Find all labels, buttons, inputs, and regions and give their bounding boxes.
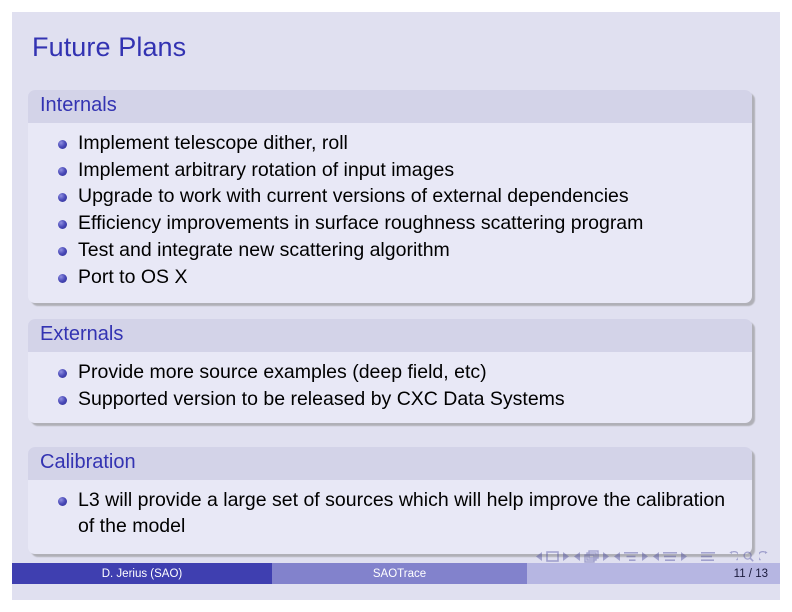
list-item-label: Upgrade to work with current versions of… bbox=[78, 185, 629, 207]
footer-bar: D. Jerius (SAO) SAOTrace 11 / 13 bbox=[12, 563, 780, 584]
nav-group-slide[interactable] bbox=[536, 551, 569, 562]
bullet-ball-icon bbox=[58, 220, 67, 229]
list-item: Implement telescope dither, roll bbox=[42, 131, 738, 157]
list-item-label: Port to OS X bbox=[78, 266, 187, 288]
bullet-list: Provide more source examples (deep field… bbox=[42, 360, 738, 413]
list-item: Test and integrate new scattering algori… bbox=[42, 238, 738, 264]
next-frame-triangle-icon[interactable] bbox=[602, 552, 609, 561]
list-item: Port to OS X bbox=[42, 265, 738, 291]
nav-group-section[interactable] bbox=[653, 551, 687, 562]
bullet-ball-icon bbox=[58, 369, 67, 378]
list-item: Implement arbitrary rotation of input im… bbox=[42, 158, 738, 184]
block-inner: Externals Provide more source examples (… bbox=[28, 319, 752, 423]
list-item-label: Implement telescope dither, roll bbox=[78, 132, 348, 154]
block-body: Provide more source examples (deep field… bbox=[28, 352, 752, 423]
prev-slide-triangle-icon[interactable] bbox=[536, 552, 543, 561]
footer-author: D. Jerius (SAO) bbox=[12, 563, 272, 584]
nav-group-frame[interactable] bbox=[574, 550, 609, 563]
list-item-label: Test and integrate new scattering algori… bbox=[78, 239, 450, 261]
list-item: Upgrade to work with current versions of… bbox=[42, 184, 738, 210]
frame-nav-icon[interactable] bbox=[584, 550, 599, 563]
list-item: Supported version to be released by CXC … bbox=[42, 387, 738, 413]
nav-group-subsection[interactable] bbox=[614, 551, 648, 562]
block-inner: Internals Implement telescope dither, ro… bbox=[28, 90, 752, 303]
list-item-label: L3 will provide a large set of sources w… bbox=[78, 489, 725, 537]
block-heading: Calibration bbox=[28, 447, 752, 480]
prev-section-triangle-icon[interactable] bbox=[653, 552, 660, 561]
block-inner: Calibration L3 will provide a large set … bbox=[28, 447, 752, 554]
list-item-label: Efficiency improvements in surface rough… bbox=[78, 212, 643, 234]
bullet-ball-icon bbox=[58, 274, 67, 283]
navigation-symbols[interactable] bbox=[536, 550, 770, 563]
footer-page-number: 11 / 13 bbox=[527, 563, 780, 584]
next-slide-triangle-icon[interactable] bbox=[562, 552, 569, 561]
list-item: Provide more source examples (deep field… bbox=[42, 360, 738, 386]
next-subsection-triangle-icon[interactable] bbox=[641, 552, 648, 561]
subsection-nav-icon[interactable] bbox=[624, 551, 638, 562]
list-item: Efficiency improvements in surface rough… bbox=[42, 211, 738, 237]
slide-canvas: Future Plans Internals Implement telesco… bbox=[12, 12, 780, 600]
next-section-triangle-icon[interactable] bbox=[680, 552, 687, 561]
bullet-list: L3 will provide a large set of sources w… bbox=[42, 488, 738, 540]
bullet-list: Implement telescope dither, roll Impleme… bbox=[42, 131, 738, 292]
bullet-ball-icon bbox=[58, 247, 67, 256]
list-item-label: Provide more source examples (deep field… bbox=[78, 361, 487, 383]
bullet-ball-icon bbox=[58, 193, 67, 202]
bullet-ball-icon bbox=[58, 140, 67, 149]
block-body: Implement telescope dither, roll Impleme… bbox=[28, 123, 752, 303]
section-nav-icon[interactable] bbox=[663, 551, 677, 562]
page-title: Future Plans bbox=[32, 32, 186, 63]
bullet-ball-icon bbox=[58, 497, 67, 506]
prev-subsection-triangle-icon[interactable] bbox=[614, 552, 621, 561]
slide-nav-icon[interactable] bbox=[546, 551, 559, 562]
prev-frame-triangle-icon[interactable] bbox=[574, 552, 581, 561]
list-item-label: Implement arbitrary rotation of input im… bbox=[78, 159, 454, 181]
list-item-label: Supported version to be released by CXC … bbox=[78, 388, 565, 410]
forward-nav-icon[interactable] bbox=[759, 551, 770, 562]
footer-subject: SAOTrace bbox=[272, 563, 527, 584]
bullet-ball-icon bbox=[58, 167, 67, 176]
block-heading: Externals bbox=[28, 319, 752, 352]
presentation-nav-icon[interactable] bbox=[701, 551, 715, 562]
list-item: L3 will provide a large set of sources w… bbox=[42, 488, 738, 540]
block-body: L3 will provide a large set of sources w… bbox=[28, 480, 752, 551]
block-heading: Internals bbox=[28, 90, 752, 123]
search-nav-icon[interactable] bbox=[743, 551, 754, 562]
bullet-ball-icon bbox=[58, 396, 67, 405]
back-nav-icon[interactable] bbox=[727, 551, 738, 562]
block-calibration: Calibration L3 will provide a large set … bbox=[28, 447, 752, 554]
block-externals: Externals Provide more source examples (… bbox=[28, 319, 752, 423]
block-internals: Internals Implement telescope dither, ro… bbox=[28, 90, 752, 303]
